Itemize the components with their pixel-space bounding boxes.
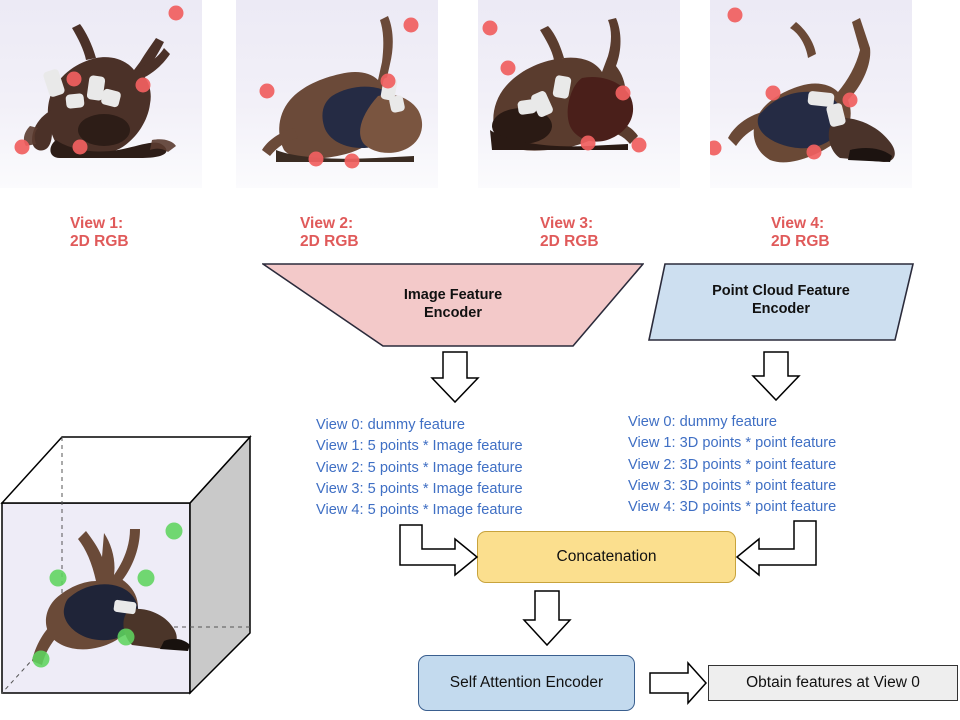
concatenation-box[interactable]: Concatenation — [477, 531, 736, 583]
view-label-3: View 3: 2D RGB — [540, 215, 599, 251]
obtain-features-box[interactable]: Obtain features at View 0 — [708, 665, 958, 701]
keypoint-2d — [807, 145, 822, 160]
image-feature-line: View 2: 5 points * Image feature — [316, 458, 523, 479]
image-feature-list: View 0: dummy feature View 1: 5 points *… — [316, 415, 523, 521]
arrow-elbow-point-to-concat — [737, 521, 816, 575]
view-panel-4 — [710, 0, 912, 188]
keypoint-2d — [404, 18, 419, 33]
obtain-features-label: Obtain features at View 0 — [746, 674, 920, 692]
point-feature-line: View 1: 3D points * point feature — [628, 433, 836, 454]
view-panel-2 — [236, 0, 438, 188]
keypoint-3d — [118, 629, 135, 646]
keypoint-2d — [73, 140, 88, 155]
view-panel-3 — [478, 0, 680, 188]
keypoint-2d — [260, 84, 275, 99]
keypoint-2d — [169, 6, 184, 21]
keypoint-2d — [616, 86, 631, 101]
keypoint-2d — [15, 140, 30, 155]
image-feature-line: View 0: dummy feature — [316, 415, 523, 436]
keypoint-2d — [136, 78, 151, 93]
keypoint-3d — [50, 570, 67, 587]
keypoint-2d — [766, 86, 781, 101]
image-feature-line: View 3: 5 points * Image feature — [316, 479, 523, 500]
image-feature-line: View 4: 5 points * Image feature — [316, 500, 523, 521]
view-label-1: View 1: 2D RGB — [70, 215, 129, 251]
arrow-elbow-image-to-concat — [400, 525, 477, 575]
keypoint-2d — [581, 136, 596, 151]
self-attention-encoder-box[interactable]: Self Attention Encoder — [418, 655, 635, 711]
wrestlers-figure-view-1 — [0, 0, 202, 188]
arrow-down-concat-to-attention — [524, 591, 570, 645]
keypoint-2d — [632, 138, 647, 153]
point-cloud-feature-encoder[interactable]: Point Cloud Feature Encoder — [648, 262, 914, 342]
point-cloud-encoder-label: Point Cloud Feature Encoder — [648, 282, 914, 318]
wrestlers-figure-view-3 — [478, 0, 680, 188]
keypoint-2d — [728, 8, 743, 23]
concatenation-label: Concatenation — [557, 548, 657, 566]
wrestlers-figure-view-4 — [710, 0, 912, 188]
view-label-4: View 4: 2D RGB — [771, 215, 830, 251]
view-panel-1 — [0, 0, 202, 188]
image-encoder-label: Image Feature Encoder — [262, 286, 644, 322]
keypoint-2d — [309, 152, 324, 167]
keypoint-2d — [501, 61, 516, 76]
keypoint-3d — [33, 651, 50, 668]
point-feature-line: View 0: dummy feature — [628, 412, 836, 433]
arrow-down-point-encoder — [753, 352, 799, 400]
keypoint-3d — [138, 570, 155, 587]
arrow-right-attention-to-obtain — [650, 663, 706, 703]
image-feature-line: View 1: 5 points * Image feature — [316, 436, 523, 457]
keypoint-2d — [381, 74, 396, 89]
3d-point-cloud-cube — [0, 425, 262, 695]
self-attention-label: Self Attention Encoder — [450, 674, 603, 692]
keypoint-2d — [67, 72, 82, 87]
keypoint-2d — [345, 154, 360, 169]
point-feature-line: View 4: 3D points * point feature — [628, 497, 836, 518]
arrow-down-image-encoder — [432, 352, 478, 402]
point-feature-line: View 3: 3D points * point feature — [628, 476, 836, 497]
keypoint-2d — [843, 93, 858, 108]
point-feature-list: View 0: dummy feature View 1: 3D points … — [628, 412, 836, 518]
keypoint-2d — [483, 21, 498, 36]
image-feature-encoder[interactable]: Image Feature Encoder — [262, 262, 644, 348]
keypoint-3d — [166, 523, 183, 540]
point-feature-line: View 2: 3D points * point feature — [628, 455, 836, 476]
view-label-2: View 2: 2D RGB — [300, 215, 359, 251]
